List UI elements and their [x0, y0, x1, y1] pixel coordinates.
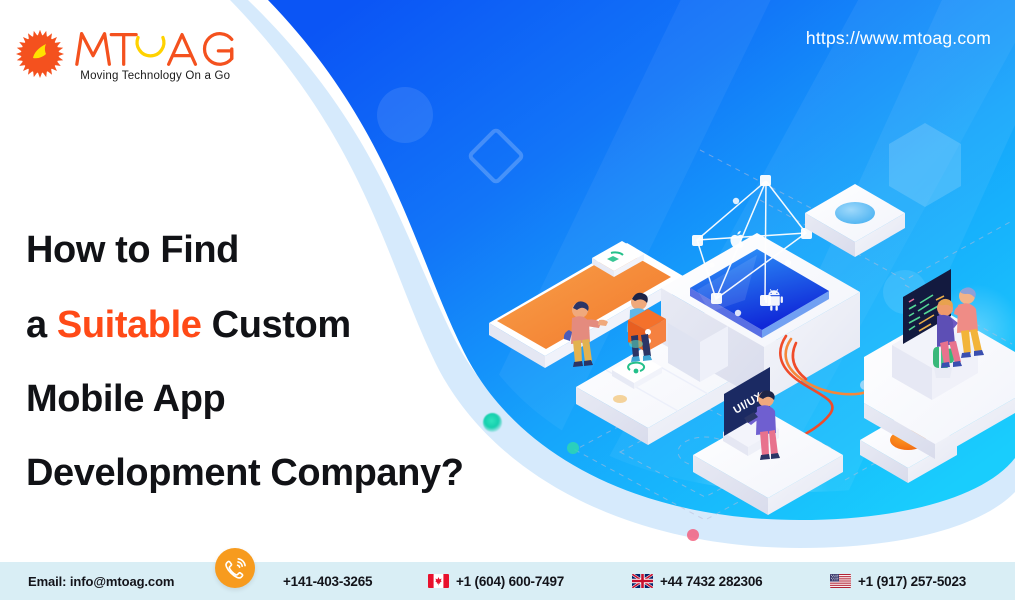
website-url[interactable]: https://www.mtoag.com: [806, 28, 991, 49]
headline-line-2-before: a: [26, 304, 57, 346]
phone-call-button[interactable]: [215, 548, 255, 588]
footer-email[interactable]: Email: info@mtoag.com: [28, 574, 174, 589]
headline-line-1: How to Find: [26, 213, 546, 287]
phone-call-icon: [224, 557, 247, 580]
decor-dot-teal: [567, 442, 579, 454]
contact-footer-bar: Email: info@mtoag.com +141-403-3265 +1 (…: [0, 562, 1015, 600]
headline-line-4: Development Company?: [26, 436, 546, 510]
footer-phone-canada[interactable]: +1 (604) 600-7497: [428, 574, 564, 589]
footer-phone-uk[interactable]: +44 7432 282306: [632, 574, 762, 589]
usa-flag-icon: [830, 574, 851, 588]
footer-phone-usa[interactable]: +1 (917) 257-5023: [830, 574, 966, 589]
brand-tagline: Moving Technology On a Go: [80, 71, 230, 83]
page-title: How to Find a Suitable Custom Mobile App…: [26, 213, 546, 509]
mtoag-sunburst-arrow-icon: [14, 28, 66, 80]
headline-line-2: a Suitable Custom: [26, 288, 546, 362]
headline-line-2-after: Custom: [202, 304, 351, 346]
brand-logo[interactable]: Moving Technology On a Go: [14, 26, 238, 83]
mtoag-wordmark: [73, 26, 238, 70]
decor-circle: [377, 87, 433, 143]
decor-dot-pink: [687, 529, 699, 541]
canada-flag-icon: [428, 574, 449, 588]
footer-phone-india[interactable]: +141-403-3265: [283, 574, 372, 589]
promo-banner: UI/UX: [0, 0, 1015, 600]
decor-dot-teal-headline: [483, 413, 502, 432]
headline-line-3: Mobile App: [26, 362, 546, 436]
uk-flag-icon: [632, 574, 653, 588]
headline-accent-word: Suitable: [57, 304, 202, 346]
